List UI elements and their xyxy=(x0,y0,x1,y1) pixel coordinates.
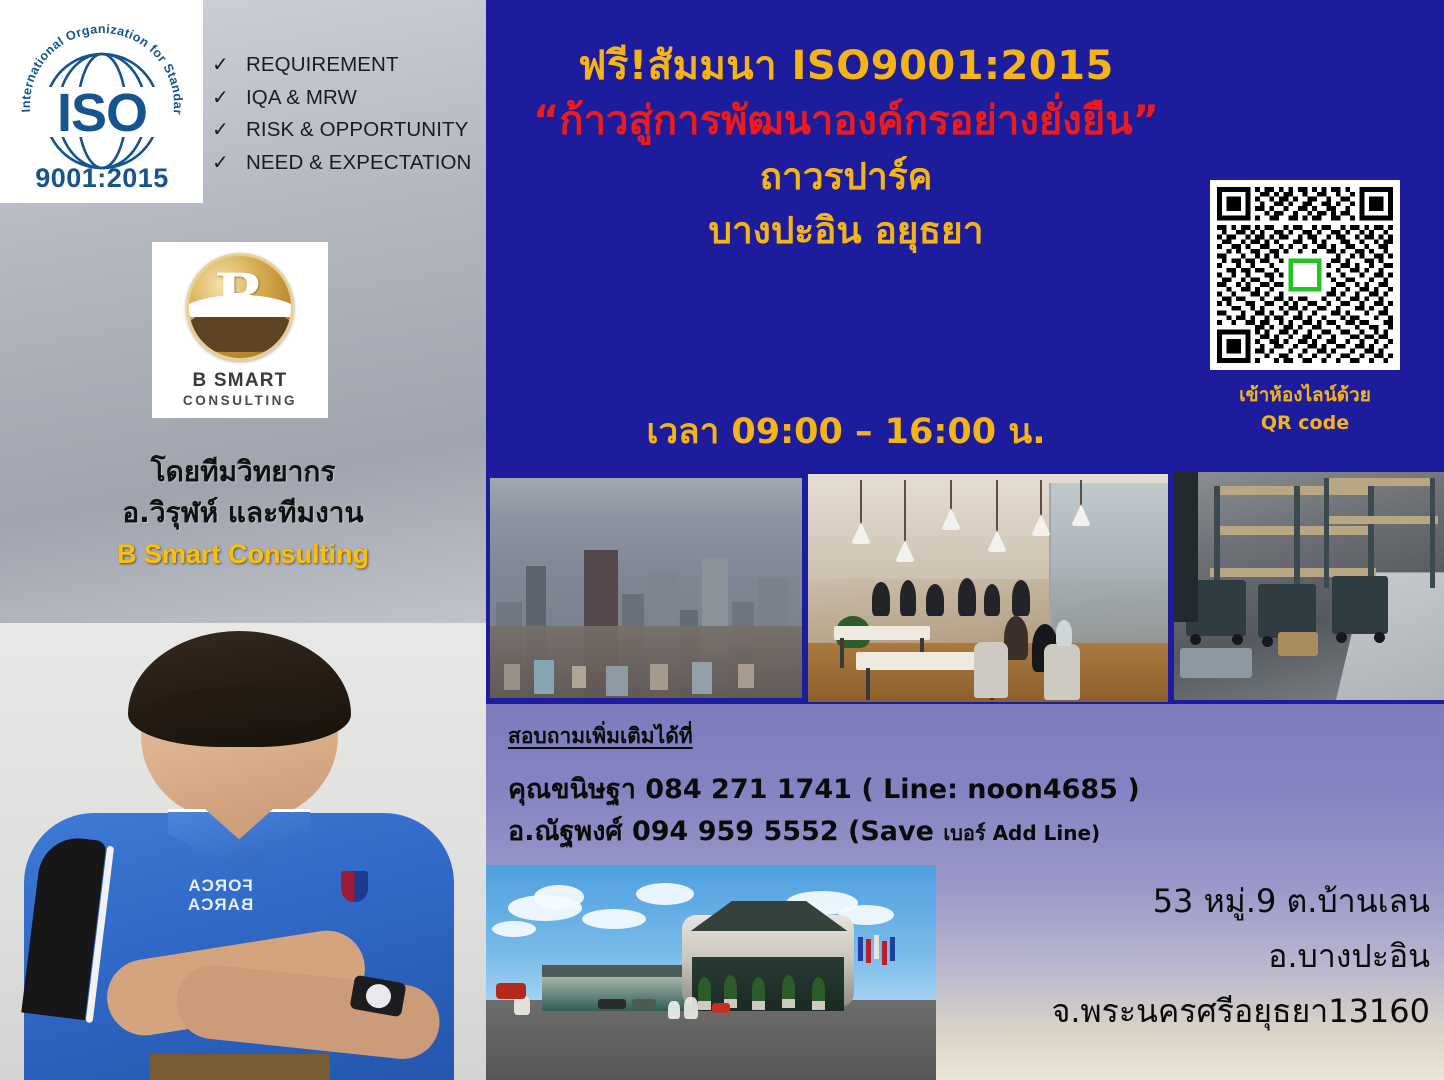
bsmart-subtitle: CONSULTING xyxy=(183,393,297,408)
contact-section: สอบถามเพิ่มเติมได้ที่ คุณขนิษฐา 084 271 … xyxy=(486,704,1444,1080)
title-line-4: บางปะอิน อยุธยา xyxy=(486,204,1206,258)
photo-strip xyxy=(486,472,1444,704)
contact-info: สอบถามเพิ่มเติมได้ที่ คุณขนิษฐา 084 271 … xyxy=(508,720,1208,853)
instructor-brand: B Smart Consulting xyxy=(0,539,486,570)
qr-caption-line-2: QR code xyxy=(1261,412,1349,434)
instructor-portrait-photo: FORCABARCA xyxy=(0,623,486,1080)
checklist-label: REQUIREMENT xyxy=(246,50,399,80)
checklist-item: ✓ IQA & MRW xyxy=(212,83,486,113)
iso-logo-card: International Organization for Standardi… xyxy=(0,0,203,203)
address-line-1: 53 หมู่.9 ต.บ้านเลน xyxy=(870,874,1430,929)
city-photo-content xyxy=(490,478,802,698)
svg-text:ISO: ISO xyxy=(56,83,146,143)
qr-caption-line-1: เข้าห้องไลน์ด้วย xyxy=(1239,384,1371,406)
portrait-shirt-text: FORCABARCA xyxy=(166,877,274,914)
city-photo xyxy=(490,478,802,698)
instructor-credits: โดยทีมวิทยากร อ.วิรุฬห์ และทีมงาน B Smar… xyxy=(0,452,486,570)
venue-address: 53 หมู่.9 ต.บ้านเลน อ.บางปะอิน จ.พระนครศ… xyxy=(870,874,1430,1039)
title-block: ฟรี!สัมมนา ISO9001:2015 “ก้าวสู่การพัฒนา… xyxy=(486,40,1206,257)
instructor-line-2: อ.วิรุฬห์ และทีมงาน xyxy=(0,493,486,534)
factory-photo xyxy=(1174,472,1444,700)
contact-line-1: คุณขนิษฐา 084 271 1741 ( Line: noon4685 … xyxy=(508,769,1208,811)
checklist-item: ✓ RISK & OPPORTUNITY xyxy=(212,115,486,145)
check-icon: ✓ xyxy=(212,83,246,112)
check-icon: ✓ xyxy=(212,148,246,177)
venue-photo xyxy=(486,865,936,1080)
bsmart-swoosh-icon xyxy=(186,306,294,352)
event-time: เวลา 09:00 – 16:00 น. xyxy=(486,404,1206,459)
check-icon: ✓ xyxy=(212,50,246,79)
contact-line-2: อ.ณัฐพงศ์ 094 959 5552 (Save เบอร์ Add L… xyxy=(508,811,1208,853)
iso-logo: International Organization for Standardi… xyxy=(9,7,195,197)
checklist-label: IQA & MRW xyxy=(246,83,357,113)
svg-text:9001:2015: 9001:2015 xyxy=(35,163,169,193)
address-line-3: จ.พระนครศรีอยุธยา13160 xyxy=(870,984,1430,1039)
portrait-crest-icon xyxy=(341,871,368,902)
benefits-checklist: ✓ REQUIREMENT ✓ IQA & MRW ✓ RISK & OPPOR… xyxy=(212,50,486,181)
seminar-poster: International Organization for Standardi… xyxy=(0,0,1444,1080)
qr-code-icon xyxy=(1217,187,1393,363)
title-line-2: “ก้าวสู่การพัฒนาองค์กรอย่างยั่งยืน” xyxy=(486,92,1206,150)
contact-heading: สอบถามเพิ่มเติมได้ที่ xyxy=(508,720,1208,753)
bsmart-circle-icon: B xyxy=(186,253,294,361)
iso-emblem-icon: International Organization for Standardi… xyxy=(9,7,195,197)
portrait-belt xyxy=(150,1054,330,1080)
bsmart-name: B SMART xyxy=(193,370,288,392)
venue-parking-lot xyxy=(486,1000,936,1080)
portrait-hair xyxy=(128,631,351,747)
checklist-label: NEED & EXPECTATION xyxy=(246,148,471,178)
contact-line-2-small: เบอร์ Add Line) xyxy=(943,821,1100,845)
qr-code[interactable] xyxy=(1210,180,1400,370)
office-photo-content xyxy=(808,474,1168,702)
instructor-line-1: โดยทีมวิทยากร xyxy=(0,452,486,493)
title-line-3: ถาวรปาร์ค xyxy=(486,150,1206,204)
factory-photo-content xyxy=(1174,472,1444,700)
contact-line-2-main: อ.ณัฐพงศ์ 094 959 5552 (Save xyxy=(508,816,943,847)
check-icon: ✓ xyxy=(212,115,246,144)
bsmart-logo-card: B B SMART CONSULTING xyxy=(152,242,328,418)
checklist-item: ✓ NEED & EXPECTATION xyxy=(212,148,486,178)
qr-caption: เข้าห้องไลน์ด้วย QR code xyxy=(1210,382,1400,437)
qr-section: เข้าห้องไลน์ด้วย QR code xyxy=(1210,180,1410,437)
title-line-1: ฟรี!สัมมนา ISO9001:2015 xyxy=(486,40,1206,92)
office-photo xyxy=(808,474,1168,702)
address-line-2: อ.บางปะอิน xyxy=(870,929,1430,984)
checklist-label: RISK & OPPORTUNITY xyxy=(246,115,468,145)
left-column: International Organization for Standardi… xyxy=(0,0,486,1080)
checklist-item: ✓ REQUIREMENT xyxy=(212,50,486,80)
title-panel: ฟรี!สัมมนา ISO9001:2015 “ก้าวสู่การพัฒนา… xyxy=(486,0,1444,472)
